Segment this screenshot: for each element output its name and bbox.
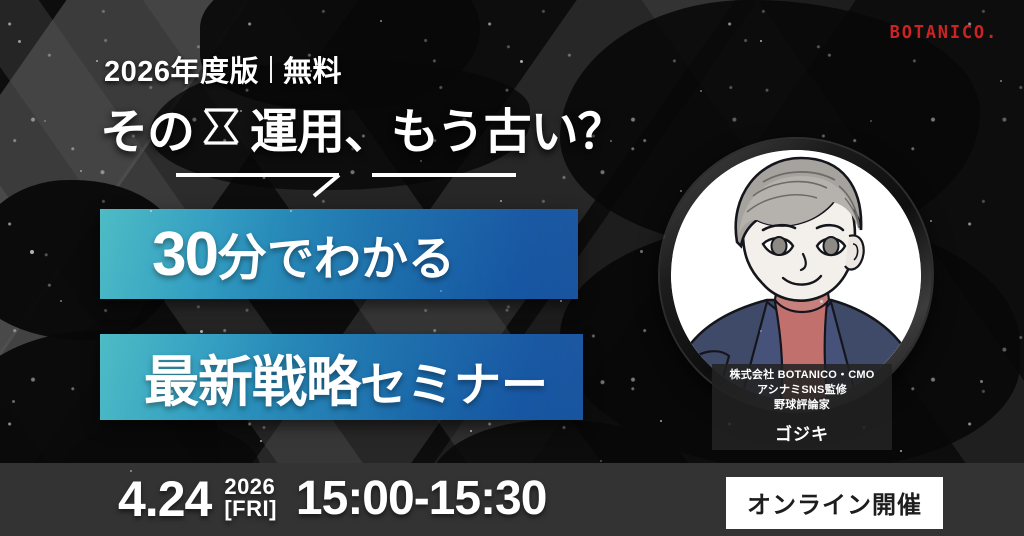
speaker-caption: 株式会社 BOTANICO・CMO アシナミSNS監修 野球評論家 ゴジキ [712, 364, 892, 450]
grunge-fleck [18, 40, 21, 43]
eyebrow-separator [270, 56, 272, 83]
grunge-fleck [150, 210, 152, 212]
grunge-fleck [60, 300, 62, 302]
grunge-fleck [440, 290, 442, 292]
grunge-fleck [470, 430, 472, 432]
grunge-fleck [350, 250, 353, 253]
grunge-fleck [380, 20, 382, 22]
grunge-fleck [30, 250, 34, 254]
grunge-fleck [520, 60, 523, 63]
speaker-avatar-illustration [671, 150, 921, 400]
bar1-big: 30 [152, 219, 217, 290]
event-year: 2026 [224, 476, 277, 498]
grunge-fleck [980, 380, 983, 383]
event-datetime: 4.24 2026 [FRI] 15:00-15:30 [118, 472, 546, 526]
grunge-fleck [560, 300, 562, 302]
grunge-fleck [660, 420, 662, 422]
speaker-role-line-3: 野球評論家 [774, 398, 830, 413]
grunge-fleck [290, 210, 292, 212]
x-logo-icon [198, 104, 244, 150]
grunge-fleck [240, 110, 242, 112]
grunge-fleck [870, 120, 872, 122]
grunge-fleck [680, 190, 682, 192]
highlight-bar-topic: 最新戦略 セミナー [100, 334, 583, 420]
speaker-role-line-1: 株式会社 BOTANICO・CMO [730, 368, 875, 383]
grunge-fleck [610, 140, 612, 142]
headline-underline-rules [176, 168, 516, 198]
headline-suffix: 運用、もう古い？ [250, 92, 625, 162]
botanico-logo: BOTANICO. [890, 23, 998, 44]
event-weekday: [FRI] [224, 498, 277, 520]
status-badge: オンライン開催 [726, 477, 943, 529]
grunge-fleck [130, 470, 132, 472]
grunge-fleck [900, 450, 902, 452]
grunge-fleck [200, 330, 203, 333]
grunge-fleck [96, 60, 98, 62]
grunge-fleck [640, 250, 643, 253]
grunge-fleck [310, 70, 312, 72]
grunge-fleck [600, 460, 602, 462]
seminar-banner: BOTANICO. 2026年度版 無料 その 運用、もう古い？ 30 分 で [0, 0, 1024, 536]
grunge-fleck [420, 160, 422, 162]
headline-prefix: その [100, 92, 194, 162]
event-time: 15:00-15:30 [296, 472, 547, 526]
speaker-name: ゴジキ [775, 420, 829, 445]
speaker-role-line-2: アシナミSNS監修 [757, 383, 847, 398]
grunge-fleck [760, 40, 762, 42]
grunge-fleck [700, 90, 702, 92]
event-date: 4.24 [118, 472, 211, 526]
grunge-fleck [820, 300, 823, 303]
grunge-fleck [1000, 80, 1002, 82]
highlight-bar-text: 最新戦略 セミナー [100, 337, 548, 417]
grunge-fleck [930, 220, 932, 222]
grunge-fleck [170, 390, 173, 393]
grunge-fleck [44, 120, 46, 122]
grunge-fleck [80, 170, 82, 172]
grunge-fleck [500, 200, 502, 202]
highlight-bar-text: 30 分 でわかる [100, 218, 455, 290]
bar2-big: 最新戦略 [144, 337, 360, 417]
grunge-fleck [760, 330, 762, 332]
event-year-weekday: 2026 [FRI] [224, 476, 277, 523]
portrait-disc [671, 150, 921, 400]
bar2-small: セミナー [360, 346, 548, 415]
page-title: その 運用、もう古い？ [100, 92, 625, 162]
eyebrow: 2026年度版 無料 [104, 48, 342, 90]
footer-bar: 4.24 2026 [FRI] 15:00-15:30 オンライン開催 [0, 463, 1024, 536]
grunge-fleck [260, 440, 262, 442]
eyebrow-price: 無料 [283, 48, 342, 90]
bar1-small: でわかる [267, 220, 455, 289]
bar1-mid: 分 [217, 218, 267, 290]
highlight-bar-duration: 30 分 でわかる [100, 209, 578, 299]
grunge-fleck [12, 400, 15, 403]
eyebrow-year: 2026年度版 [104, 48, 259, 90]
